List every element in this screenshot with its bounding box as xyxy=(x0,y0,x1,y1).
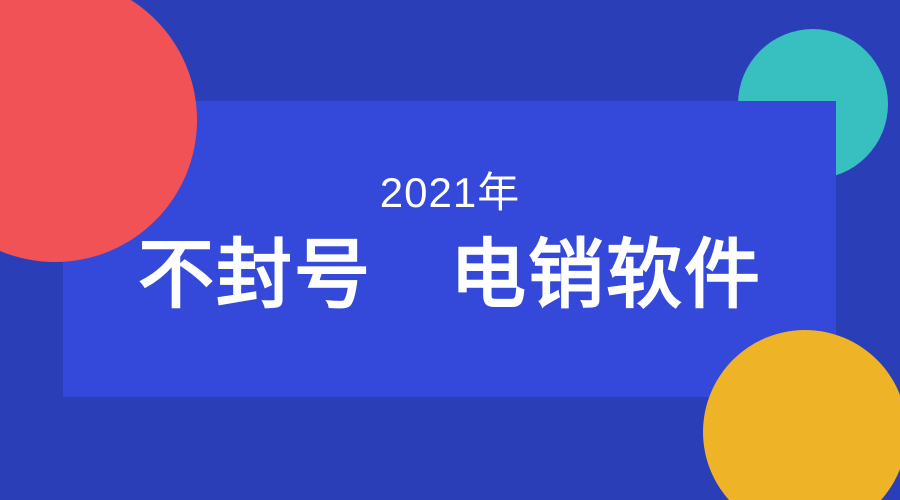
promo-banner: 2021年 不封号 电销软件 xyxy=(0,0,900,500)
